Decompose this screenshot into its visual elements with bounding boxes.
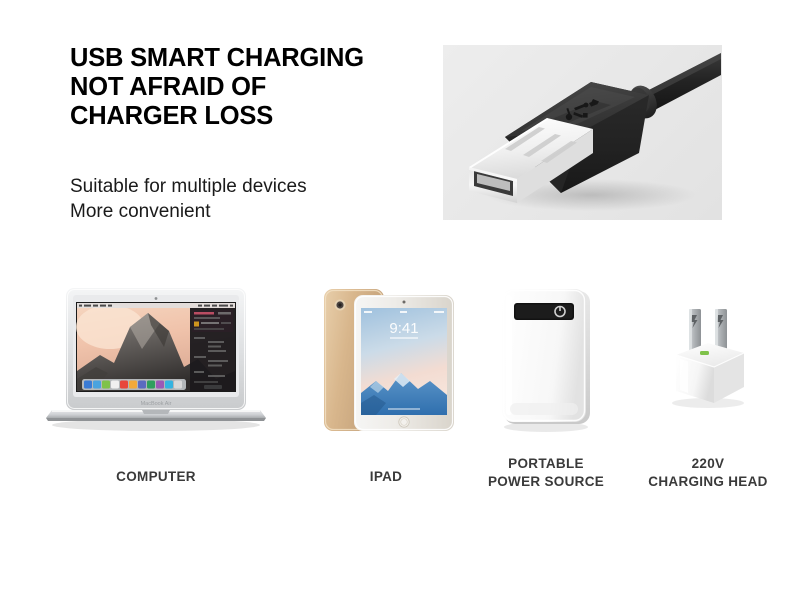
device-label-line: COMPUTER [38, 468, 274, 486]
subheading: Suitable for multiple devices More conve… [70, 174, 430, 224]
power-bank-illustration [480, 275, 612, 440]
device-label-line: PORTABLE [480, 455, 612, 473]
device-label-line: IPAD [306, 468, 466, 486]
power-bank-icon [480, 275, 612, 440]
power-bank-display [514, 303, 574, 320]
device-cell-powerbank: PORTABLE POWER SOURCE [480, 275, 612, 491]
charging-head-illustration [628, 275, 788, 440]
device-label-line: POWER SOURCE [480, 473, 612, 491]
ipad-air-2-icon: 9:41 [306, 275, 466, 440]
device-row: MacBook Air COMPUTER [0, 275, 790, 505]
device-label-ipad: IPAD [306, 468, 466, 486]
headline-line-3: CHARGER LOSS [70, 102, 430, 131]
headline: USB SMART CHARGING NOT AFRAID OF CHARGER… [70, 44, 430, 131]
device-cell-ipad: 9:41 IPAD [306, 275, 466, 486]
macbook-air-laptop-icon: MacBook Air [38, 275, 274, 440]
front-camera-icon [403, 301, 406, 304]
headline-line-2: NOT AFRAID OF [70, 73, 430, 102]
macbook-air-illustration: MacBook Air [38, 275, 274, 440]
notification-center-sidebar [190, 308, 235, 391]
ipad-front-body: 9:41 [354, 295, 454, 431]
charger-body [676, 343, 744, 403]
usb-a-connector-illustration [443, 45, 722, 220]
subheading-line-1: Suitable for multiple devices [70, 174, 430, 199]
dock-icons [84, 381, 182, 389]
headline-line-1: USB SMART CHARGING [70, 44, 430, 73]
macos-dock [82, 379, 186, 390]
device-label-computer: COMPUTER [38, 468, 274, 486]
usb-connector-photo [443, 45, 722, 220]
ipad-illustration: 9:41 [306, 275, 466, 440]
device-label-line: CHARGING HEAD [628, 473, 788, 491]
device-label-line: 220V [628, 455, 788, 473]
device-label-powerbank: PORTABLE POWER SOURCE [480, 455, 612, 491]
webcam-icon [155, 297, 158, 300]
ipad-lockscreen-date [390, 337, 418, 339]
device-cell-charger: 220V CHARGING HEAD [628, 275, 788, 491]
subheading-line-2: More convenient [70, 199, 430, 224]
charger-led-accent [700, 351, 709, 355]
device-label-charger: 220V CHARGING HEAD [628, 455, 788, 491]
laptop-brand-text: MacBook Air [141, 401, 172, 407]
wall-charger-icon [628, 275, 788, 440]
trackpad-notch [142, 410, 170, 414]
laptop-screen-content [76, 303, 235, 391]
device-cell-computer: MacBook Air COMPUTER [38, 275, 274, 486]
ipad-lockscreen-time: 9:41 [389, 320, 418, 337]
